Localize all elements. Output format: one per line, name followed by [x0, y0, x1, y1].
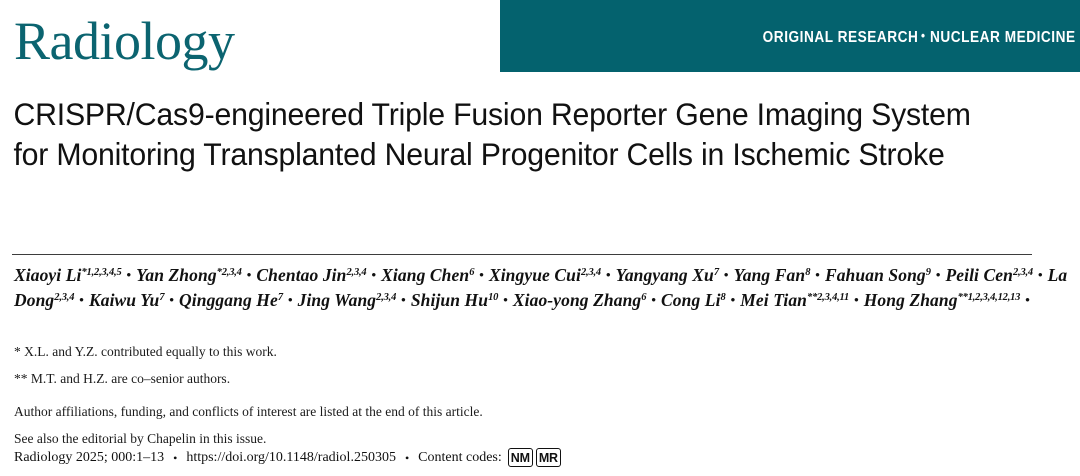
banner-section-label: ORIGINAL RESEARCH — [763, 29, 919, 46]
author-separator-dot: • — [283, 292, 298, 307]
author-entry[interactable]: Qinggang He7 — [179, 290, 283, 310]
author-name: Shijun Hu — [411, 290, 488, 310]
author-entry[interactable]: Peili Cen2,3,4 — [945, 265, 1033, 285]
author-entry[interactable]: Mei Tian**2,3,4,11 — [740, 290, 849, 310]
author-affiliation-marker: **1,2,3,4,12,13 — [958, 292, 1021, 303]
note-affiliations: Author affiliations, funding, and confli… — [14, 404, 914, 420]
article-notes: * X.L. and Y.Z. contributed equally to t… — [14, 344, 914, 458]
author-separator-dot: • — [849, 292, 864, 307]
author-name: Jing Wang — [298, 290, 377, 310]
author-entry[interactable]: Jing Wang2,3,4 — [298, 290, 397, 310]
author-affiliation-marker: 2,3,4 — [54, 292, 74, 303]
author-affiliation-marker: 2,3,4 — [1013, 267, 1033, 278]
author-affiliation-marker: *1,2,3,4,5 — [82, 267, 122, 278]
author-name: Fahuan Song — [825, 265, 926, 285]
citation-text: Radiology 2025; 000:1–13 — [14, 449, 164, 467]
author-separator-dot: • — [726, 292, 741, 307]
section-banner: ORIGINAL RESEARCH•NUCLEAR MEDICINE — [500, 0, 1080, 72]
banner-subject-label: NUCLEAR MEDICINE — [930, 29, 1076, 46]
author-separator-dot: • — [396, 292, 411, 307]
author-name: Yangyang Xu — [616, 265, 714, 285]
author-entry[interactable]: Yan Zhong*2,3,4 — [136, 265, 242, 285]
author-name: Qinggang He — [179, 290, 278, 310]
journal-masthead-radiology: Radiology — [14, 14, 235, 68]
section-banner-text: ORIGINAL RESEARCH•NUCLEAR MEDICINE — [763, 28, 1076, 47]
author-separator-dot: • — [931, 267, 946, 282]
content-code-badge-nm[interactable]: NM — [508, 448, 533, 467]
author-affiliation-marker: 2,3,4 — [346, 267, 366, 278]
author-separator-dot: • — [601, 267, 616, 282]
author-entry[interactable]: Shijun Hu10 — [411, 290, 498, 310]
author-name: Peili Cen — [945, 265, 1013, 285]
journal-header: Radiology ORIGINAL RESEARCH•NUCLEAR MEDI… — [0, 0, 1080, 72]
author-name: Cong Li — [661, 290, 721, 310]
author-name: Mei Tian — [740, 290, 807, 310]
article-title: CRISPR/Cas9-engineered Triple Fusion Rep… — [0, 72, 1037, 174]
author-separator-dot: • — [1033, 267, 1048, 282]
author-separator-dot: • — [810, 267, 825, 282]
author-name: Hong Zhang — [864, 290, 958, 310]
author-list: Xiaoyi Li*1,2,3,4,5•Yan Zhong*2,3,4•Chen… — [14, 262, 1070, 311]
note-co-senior-authors: ** M.T. and H.Z. are co–senior authors. — [14, 371, 914, 387]
author-name: Xiaoyi Li — [14, 265, 82, 285]
note-equal-contribution: * X.L. and Y.Z. contributed equally to t… — [14, 344, 914, 360]
author-separator-dot: • — [474, 267, 489, 282]
author-separator-dot: • — [367, 267, 382, 282]
author-entry[interactable]: Xiaoyi Li*1,2,3,4,5 — [14, 265, 122, 285]
author-affiliation-marker: 2,3,4 — [376, 292, 396, 303]
author-name: Xiao-yong Zhang — [513, 290, 641, 310]
author-separator-dot: • — [242, 267, 257, 282]
doi-link[interactable]: https://doi.org/10.1148/radiol.250305 — [186, 449, 396, 467]
author-entry[interactable]: Yangyang Xu7 — [616, 265, 719, 285]
author-name: Yang Fan — [734, 265, 806, 285]
author-name: Chentao Jin — [256, 265, 346, 285]
author-separator-dot: • — [646, 292, 661, 307]
author-separator-dot: • — [74, 292, 89, 307]
author-name: Kaiwu Yu — [89, 290, 159, 310]
note-editorial: See also the editorial by Chapelin in th… — [14, 431, 914, 447]
author-entry[interactable]: Cong Li8 — [661, 290, 726, 310]
content-codes-label: Content codes: — [418, 449, 508, 467]
author-name: Xiang Chen — [381, 265, 469, 285]
author-separator-dot: • — [1020, 292, 1035, 307]
author-separator-dot: • — [719, 267, 734, 282]
content-code-badge-mr[interactable]: MR — [536, 448, 561, 467]
author-separator-dot: • — [498, 292, 513, 307]
author-affiliation-marker: 2,3,4 — [581, 267, 601, 278]
author-entry[interactable]: Xingyue Cui2,3,4 — [489, 265, 601, 285]
author-separator-dot: • — [164, 292, 179, 307]
author-affiliation-marker: *2,3,4 — [217, 267, 242, 278]
author-name: Xingyue Cui — [489, 265, 581, 285]
banner-separator-dot: • — [919, 28, 931, 43]
citation-footer: Radiology 2025; 000:1–13 • https://doi.o… — [14, 448, 564, 467]
author-entry[interactable]: Hong Zhang**1,2,3,4,12,13 — [864, 290, 1021, 310]
footer-separator-dot-1: • — [164, 449, 186, 467]
author-entry[interactable]: Chentao Jin2,3,4 — [256, 265, 366, 285]
author-entry[interactable]: Xiang Chen6 — [381, 265, 474, 285]
author-separator-dot: • — [122, 267, 137, 282]
author-entry[interactable]: Xiao-yong Zhang6 — [513, 290, 646, 310]
author-entry[interactable]: Kaiwu Yu7 — [89, 290, 164, 310]
author-entry[interactable]: Fahuan Song9 — [825, 265, 931, 285]
footer-separator-dot-2: • — [396, 449, 418, 467]
author-affiliation-marker: **2,3,4,11 — [807, 292, 849, 303]
author-affiliation-marker: 10 — [488, 292, 498, 303]
horizontal-divider — [12, 254, 1032, 255]
author-affiliation-marker: 8 — [721, 292, 726, 303]
author-name: Yan Zhong — [136, 265, 217, 285]
author-entry[interactable]: Yang Fan8 — [734, 265, 811, 285]
